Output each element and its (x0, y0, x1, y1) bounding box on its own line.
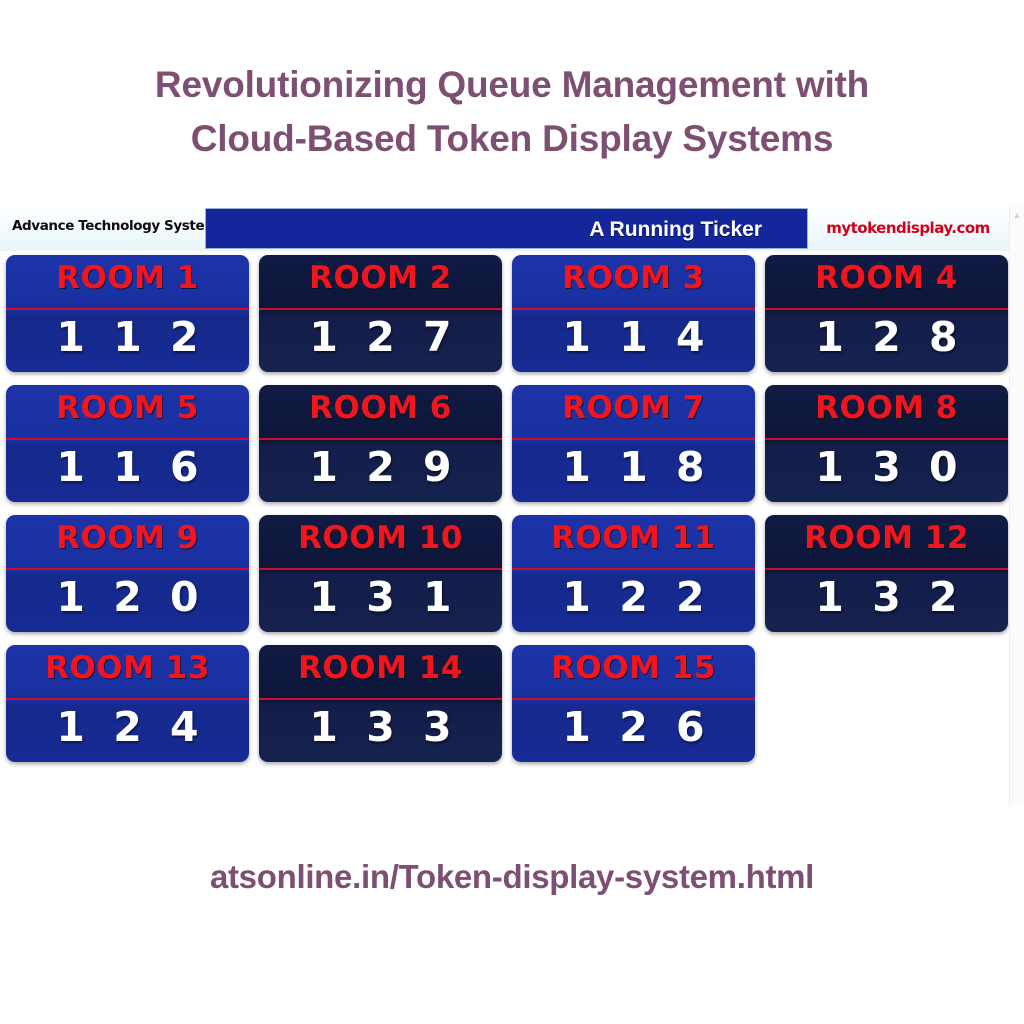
running-ticker-text: A Running Ticker (589, 218, 762, 242)
tile-divider (259, 308, 502, 310)
tile-divider (6, 568, 249, 570)
token-number: 1 2 2 (512, 573, 755, 621)
room-label: ROOM 12 (765, 520, 1008, 556)
tile-divider (6, 438, 249, 440)
room-tile[interactable]: ROOM 11 1 2 (6, 255, 249, 372)
page-title: Revolutionizing Queue Management with Cl… (0, 58, 1024, 166)
tile-divider (259, 698, 502, 700)
room-label: ROOM 1 (6, 260, 249, 296)
token-number: 1 2 8 (765, 313, 1008, 361)
room-tile-row: ROOM 11 1 2ROOM 21 2 7ROOM 31 1 4ROOM 41… (6, 255, 1008, 372)
token-number: 1 1 4 (512, 313, 755, 361)
room-label: ROOM 2 (259, 260, 502, 296)
display-header-bar: Advance Technology Systems A Running Tic… (0, 205, 1010, 251)
token-number: 1 2 9 (259, 443, 502, 491)
tile-divider (512, 568, 755, 570)
room-label: ROOM 3 (512, 260, 755, 296)
vertical-scrollbar[interactable]: ▲ (1009, 205, 1024, 805)
tile-divider (259, 438, 502, 440)
tile-divider (765, 438, 1008, 440)
footer-url[interactable]: atsonline.in/Token-display-system.html (0, 858, 1024, 896)
token-number: 1 1 8 (512, 443, 755, 491)
room-tile[interactable]: ROOM 61 2 9 (259, 385, 502, 502)
tile-divider (512, 308, 755, 310)
token-number: 1 1 2 (6, 313, 249, 361)
room-tile[interactable]: ROOM 151 2 6 (512, 645, 755, 762)
room-label: ROOM 11 (512, 520, 755, 556)
page-title-line-1: Revolutionizing Queue Management with (155, 64, 869, 105)
room-label: ROOM 13 (6, 650, 249, 686)
room-tile-row: ROOM 51 1 6ROOM 61 2 9ROOM 71 1 8ROOM 81… (6, 385, 1008, 502)
tile-divider (6, 698, 249, 700)
room-tile-row: ROOM 131 2 4ROOM 141 3 3ROOM 151 2 6 (6, 645, 1008, 762)
room-tile[interactable]: ROOM 131 2 4 (6, 645, 249, 762)
tile-divider (765, 308, 1008, 310)
room-tile[interactable]: ROOM 81 3 0 (765, 385, 1008, 502)
room-tile[interactable]: ROOM 41 2 8 (765, 255, 1008, 372)
chevron-up-icon[interactable]: ▲ (1010, 208, 1024, 222)
token-display-panel: Advance Technology Systems A Running Tic… (0, 205, 1024, 805)
room-tile[interactable]: ROOM 51 1 6 (6, 385, 249, 502)
room-tile[interactable]: ROOM 111 2 2 (512, 515, 755, 632)
token-number: 1 2 7 (259, 313, 502, 361)
tile-divider (6, 308, 249, 310)
room-tile[interactable]: ROOM 91 2 0 (6, 515, 249, 632)
token-number: 1 3 1 (259, 573, 502, 621)
token-number: 1 2 4 (6, 703, 249, 751)
room-tile[interactable]: ROOM 71 1 8 (512, 385, 755, 502)
room-label: ROOM 7 (512, 390, 755, 426)
room-tile[interactable]: ROOM 101 3 1 (259, 515, 502, 632)
room-tile[interactable]: ROOM 31 1 4 (512, 255, 755, 372)
room-label: ROOM 10 (259, 520, 502, 556)
tile-divider (512, 438, 755, 440)
room-tile-row: ROOM 91 2 0ROOM 101 3 1ROOM 111 2 2ROOM … (6, 515, 1008, 632)
token-number: 1 3 2 (765, 573, 1008, 621)
token-number: 1 2 0 (6, 573, 249, 621)
room-label: ROOM 14 (259, 650, 502, 686)
tile-divider (259, 568, 502, 570)
tile-divider (512, 698, 755, 700)
company-name-label: Advance Technology Systems (12, 218, 202, 234)
room-label: ROOM 5 (6, 390, 249, 426)
room-tile-grid: ROOM 11 1 2ROOM 21 2 7ROOM 31 1 4ROOM 41… (6, 255, 1008, 775)
token-number: 1 1 6 (6, 443, 249, 491)
room-label: ROOM 6 (259, 390, 502, 426)
running-ticker-bar[interactable]: A Running Ticker (205, 208, 808, 249)
token-number: 1 2 6 (512, 703, 755, 751)
room-label: ROOM 15 (512, 650, 755, 686)
page-title-line-2: Cloud-Based Token Display Systems (0, 112, 1024, 166)
room-label: ROOM 8 (765, 390, 1008, 426)
token-number: 1 3 3 (259, 703, 502, 751)
mytokendisplay-logo-text: mytokendisplay.com (818, 219, 998, 237)
room-tile[interactable]: ROOM 121 3 2 (765, 515, 1008, 632)
tile-divider (765, 568, 1008, 570)
room-tile[interactable]: ROOM 141 3 3 (259, 645, 502, 762)
room-tile[interactable]: ROOM 21 2 7 (259, 255, 502, 372)
room-label: ROOM 4 (765, 260, 1008, 296)
room-label: ROOM 9 (6, 520, 249, 556)
token-number: 1 3 0 (765, 443, 1008, 491)
